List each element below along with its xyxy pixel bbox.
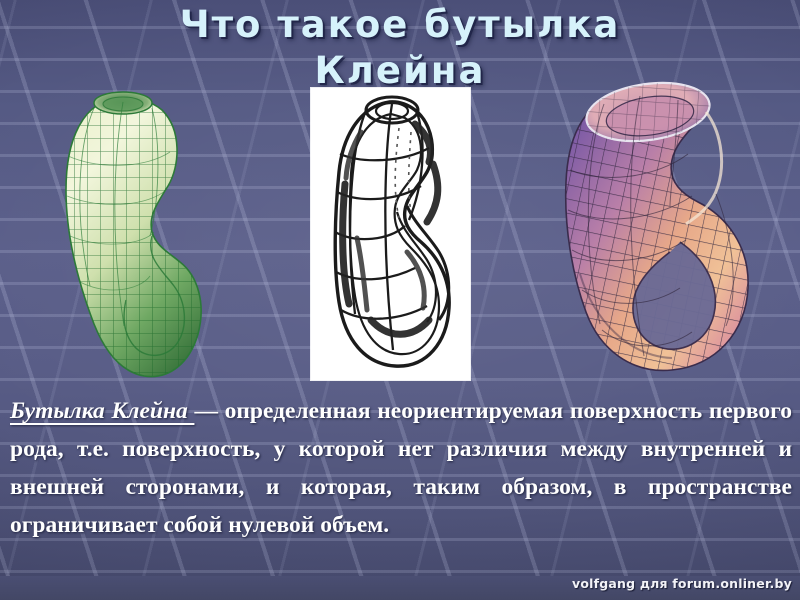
klein-bottle-green-svg	[22, 86, 222, 386]
klein-bottle-green-figure	[22, 86, 222, 386]
klein-bottle-purple-svg	[520, 74, 782, 394]
klein-bottle-purple-figure	[520, 74, 782, 394]
definition-text-block: Бутылка Клейна — определенная неориентир…	[10, 392, 792, 544]
klein-bottle-engraving-svg	[311, 88, 470, 380]
definition-paragraph: Бутылка Клейна — определенная неориентир…	[10, 392, 792, 544]
presentation-slide: Что такое бутылка Клейна	[0, 0, 800, 600]
klein-bottle-engraving-card	[311, 88, 470, 380]
term-klein-bottle: Бутылка Клейна	[10, 398, 194, 424]
watermark: volfgang для forum.onliner.by	[572, 576, 792, 591]
